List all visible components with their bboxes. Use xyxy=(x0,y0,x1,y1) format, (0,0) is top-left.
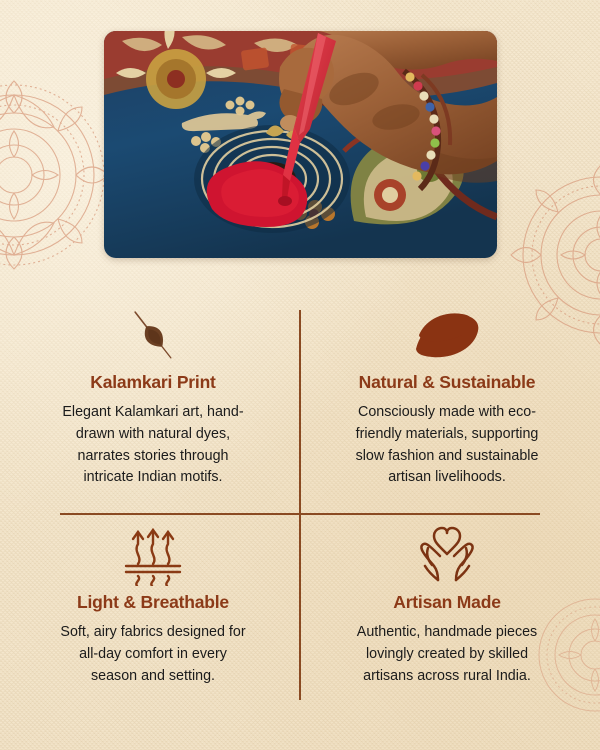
hands-holding-heart-icon xyxy=(312,523,582,587)
body-line: lovingly created by skilled xyxy=(318,644,576,666)
feature-body: Soft, airy fabrics designed for all-day … xyxy=(18,622,288,687)
feature-title: Kalamkari Print xyxy=(18,373,288,392)
body-line: intricate Indian motifs. xyxy=(24,467,282,489)
body-line: drawn with natural dyes, xyxy=(24,424,282,446)
feature-title: Light & Breathable xyxy=(18,593,288,612)
body-line: season and setting. xyxy=(24,666,282,688)
hero-photo xyxy=(104,31,497,258)
feature-card-light-breathable: Light & Breathable Soft, airy fabrics de… xyxy=(18,523,288,687)
quill-pen-icon xyxy=(18,303,288,367)
body-line: Consciously made with eco- xyxy=(318,402,576,424)
feature-body: Elegant Kalamkari art, hand- drawn with … xyxy=(18,402,288,489)
feature-body: Authentic, handmade pieces lovingly crea… xyxy=(312,622,582,687)
mandala-ornament-left xyxy=(0,60,114,290)
feature-grid: Kalamkari Print Elegant Kalamkari art, h… xyxy=(0,295,600,715)
body-line: Authentic, handmade pieces xyxy=(318,622,576,644)
grid-divider-horizontal xyxy=(60,513,540,515)
feature-card-natural-sustainable: Natural & Sustainable Consciously made w… xyxy=(312,303,582,489)
feature-body: Consciously made with eco- friendly mate… xyxy=(312,402,582,489)
feature-card-kalamkari-print: Kalamkari Print Elegant Kalamkari art, h… xyxy=(18,303,288,489)
feature-title: Artisan Made xyxy=(312,593,582,612)
grid-divider-vertical xyxy=(299,310,301,700)
breathable-airflow-icon xyxy=(18,523,288,587)
body-line: slow fashion and sustainable xyxy=(318,446,576,468)
body-line: artisans across rural India. xyxy=(318,666,576,688)
body-line: friendly materials, supporting xyxy=(318,424,576,446)
leaf-icon xyxy=(312,303,582,367)
body-line: narrates stories through xyxy=(24,446,282,468)
body-line: all-day comfort in every xyxy=(24,644,282,666)
feature-card-artisan-made: Artisan Made Authentic, handmade pieces … xyxy=(312,523,582,687)
body-line: Soft, airy fabrics designed for xyxy=(24,622,282,644)
body-line: artisan livelihoods. xyxy=(318,467,576,489)
body-line: Elegant Kalamkari art, hand- xyxy=(24,402,282,424)
kalamkari-feature-poster: Kalamkari Print Elegant Kalamkari art, h… xyxy=(0,0,600,750)
feature-title: Natural & Sustainable xyxy=(312,373,582,392)
